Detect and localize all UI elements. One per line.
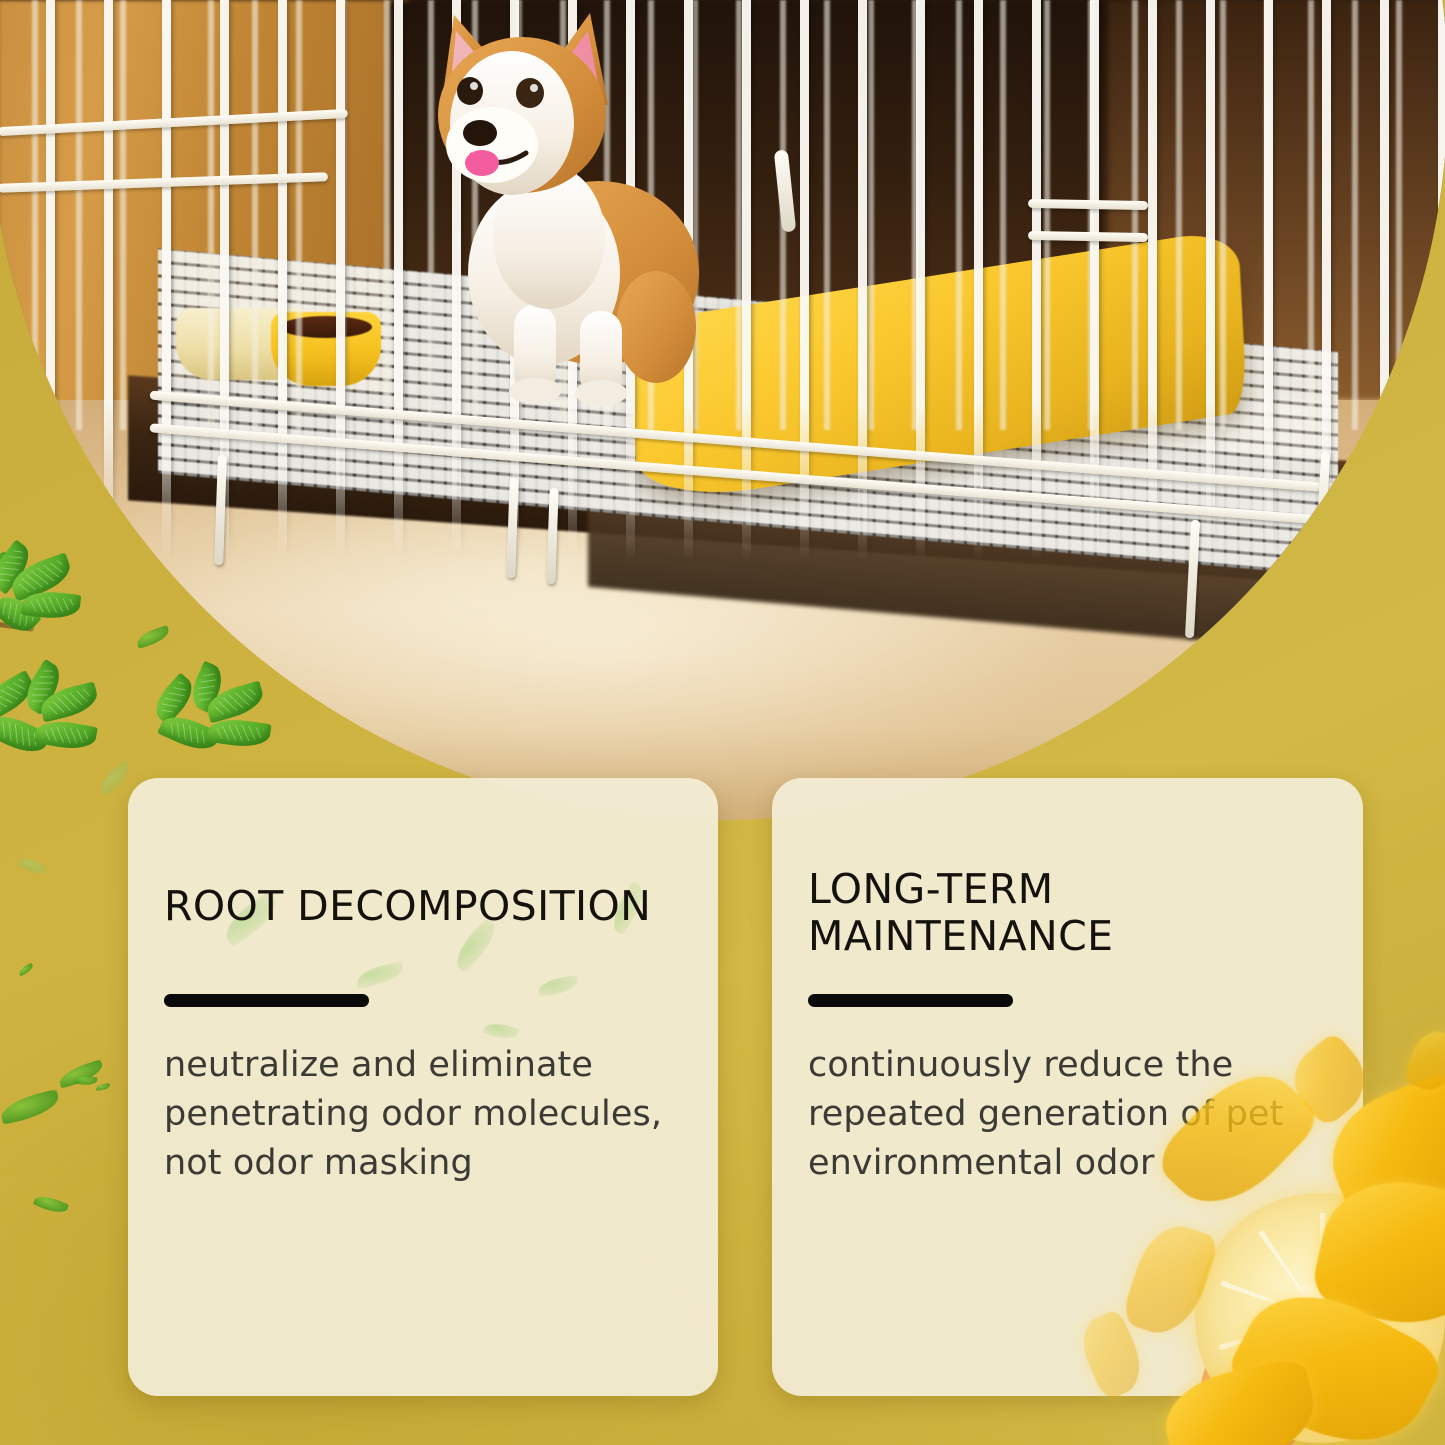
promo-graphic: ROOT DECOMPOSITION neutralize and elimin… [0,0,1445,1445]
card-title: ROOT DECOMPOSITION [164,778,682,930]
card-description: continuously reduce the repeated generat… [808,1007,1327,1188]
product-photo [0,0,1445,820]
product-photo-scene [0,0,1445,820]
card-content: ROOT DECOMPOSITION neutralize and elimin… [128,778,718,1188]
card-divider [808,994,1013,1007]
dog-illustration [394,5,734,405]
feature-card-root-decomposition[interactable]: ROOT DECOMPOSITION neutralize and elimin… [128,778,718,1396]
card-title: LONG-TERM MAINTENANCE [808,778,1327,960]
feature-card-long-term-maintenance[interactable]: LONG-TERM MAINTENANCE continuously reduc… [772,778,1363,1396]
card-divider [164,994,369,1007]
card-description: neutralize and eliminate penetrating odo… [164,1007,682,1188]
card-content: LONG-TERM MAINTENANCE continuously reduc… [772,778,1363,1188]
